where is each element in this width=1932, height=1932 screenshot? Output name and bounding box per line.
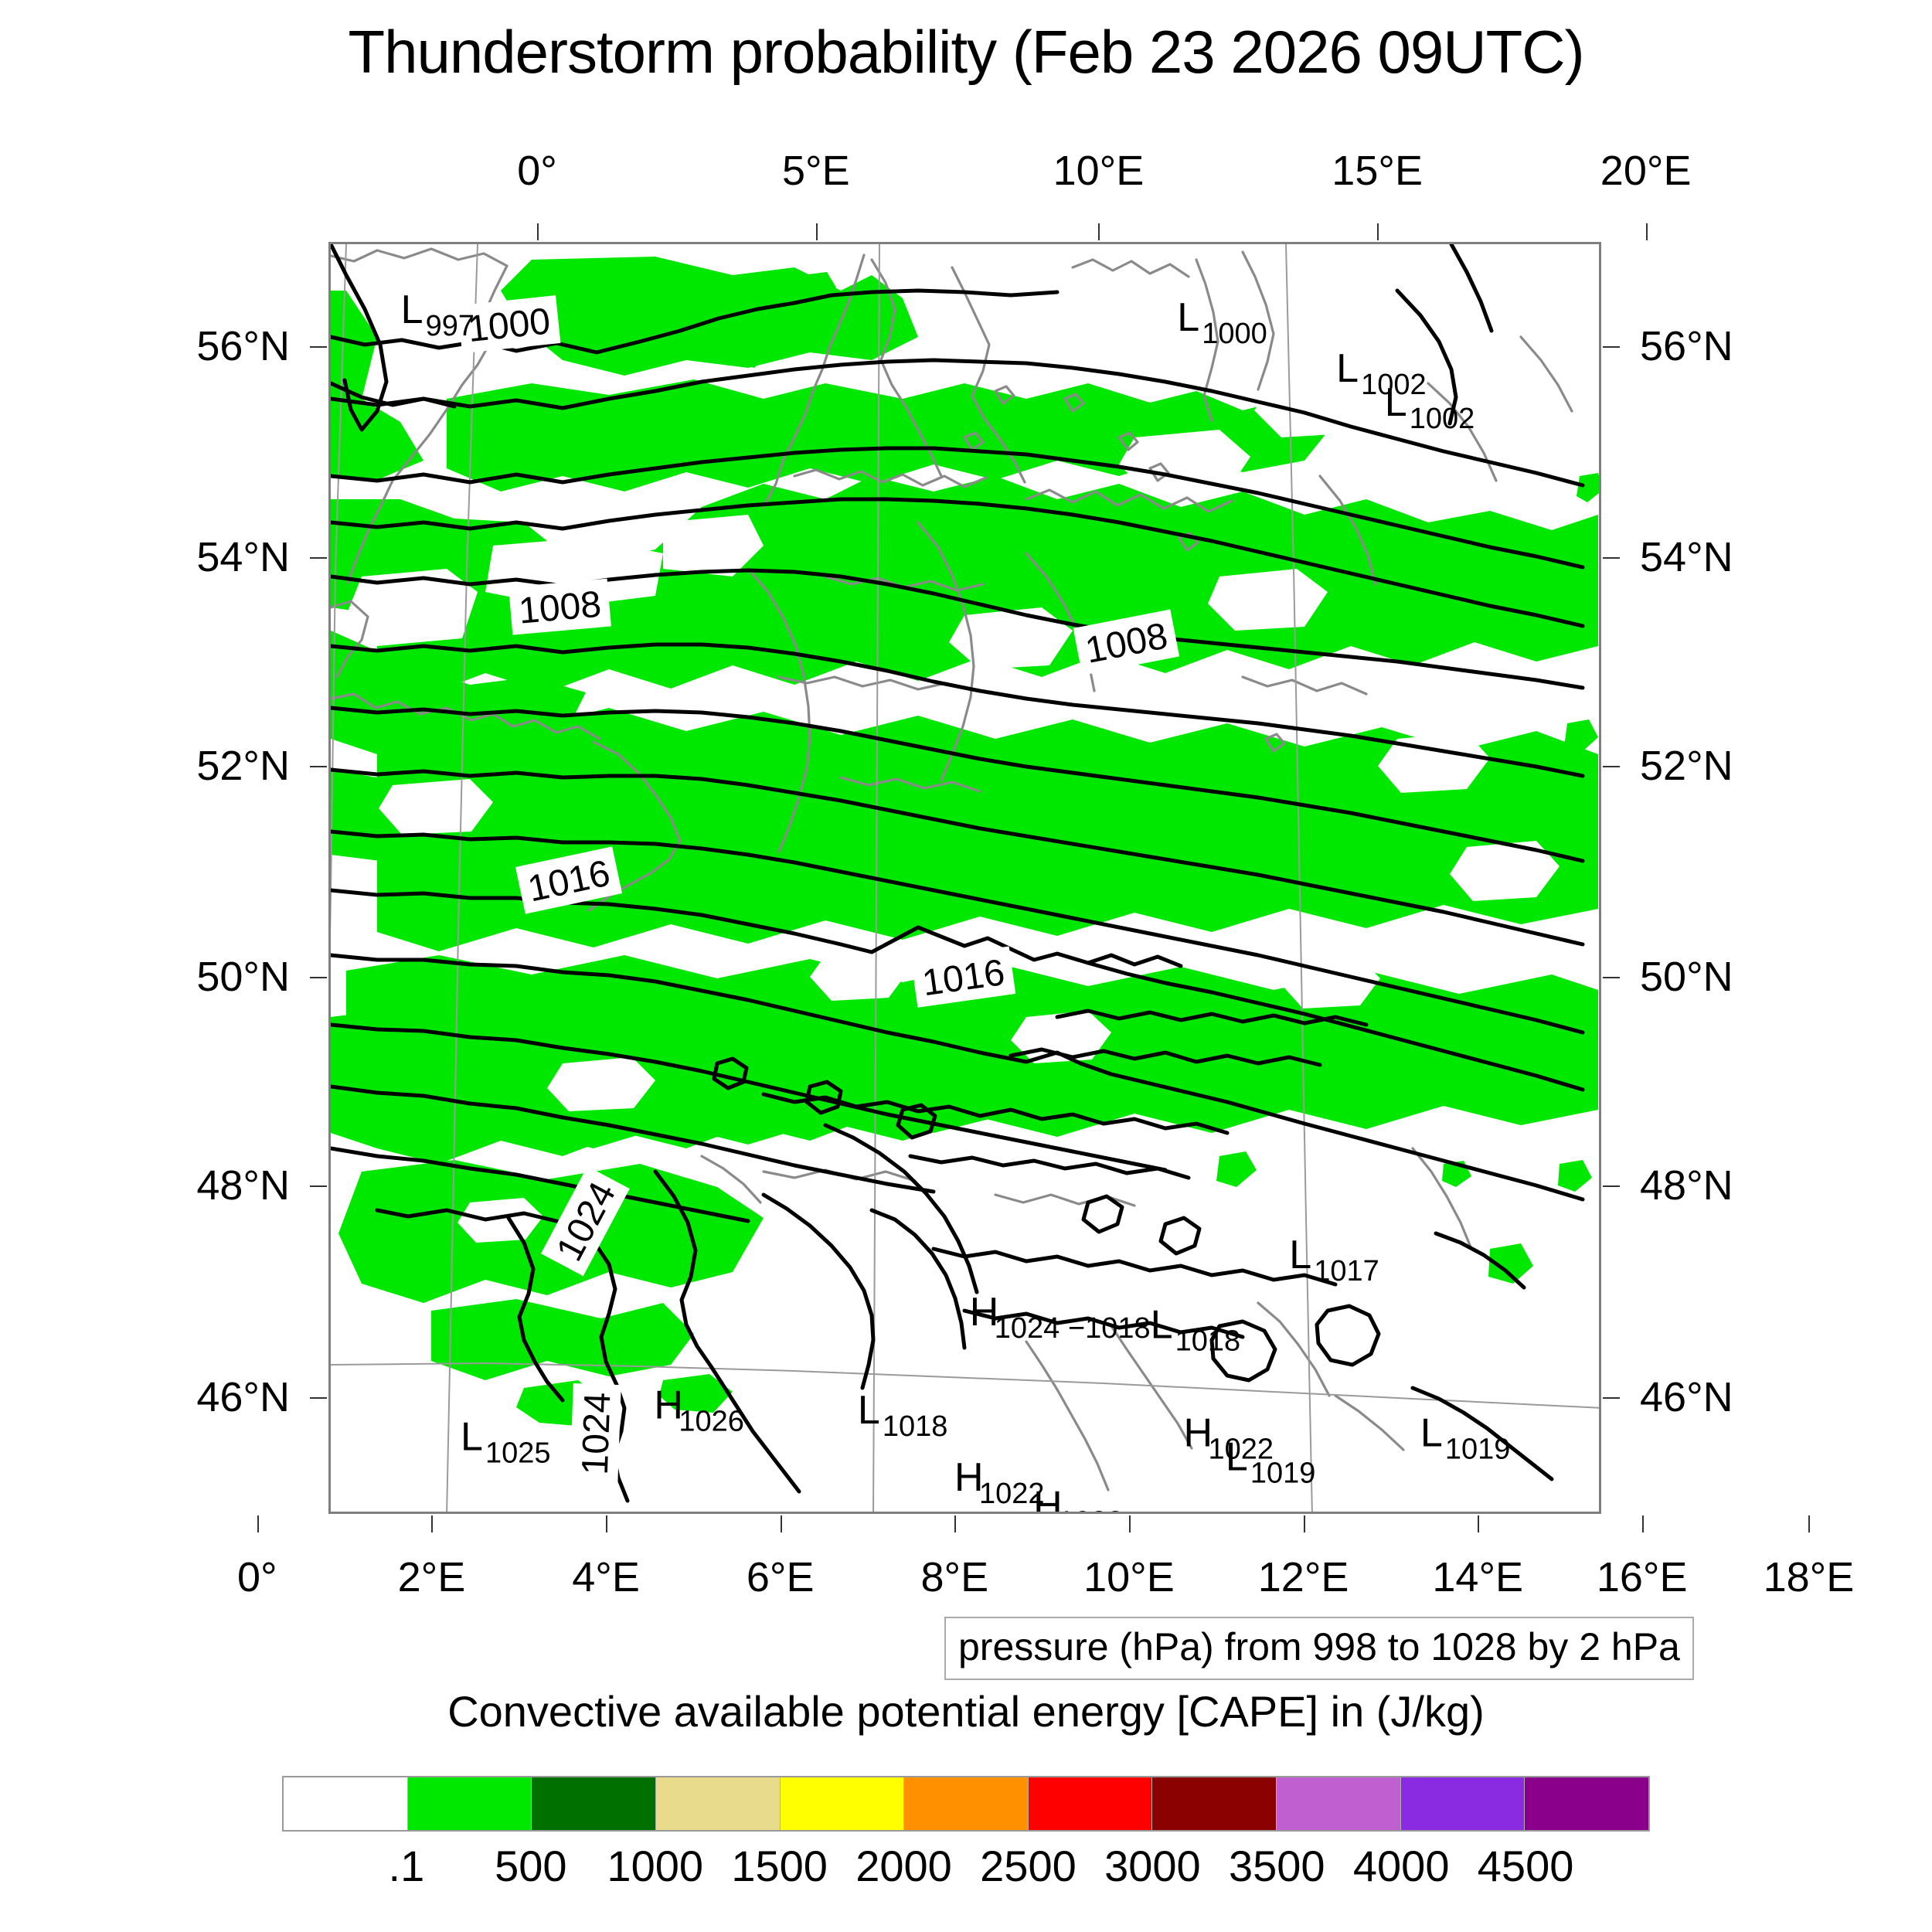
bottom-axis-tick-label: 10°E [1083,1553,1175,1601]
bottom-axis-tick [1808,1515,1810,1532]
right-axis-tick-label: 46°N [1640,1373,1733,1421]
colorbar-tick-label: 4000 [1353,1841,1450,1891]
pressure-center-low: L1018 [1151,1303,1241,1358]
pressure-center-symbol: L [1420,1410,1443,1455]
left-axis-tick [310,977,327,978]
pressure-center-value: 1026 [679,1405,744,1437]
pressure-center-value: 1025 [485,1437,551,1469]
contour-label-text: 1000 [466,301,553,350]
colorbar-tick-label: 4500 [1478,1841,1574,1891]
pressure-center-symbol: L [1226,1435,1248,1480]
bottom-axis-tick-label: 18°E [1764,1553,1855,1601]
bottom-axis-tick-label: 0° [237,1553,277,1601]
pressure-center-symbol: L [401,287,423,332]
left-axis-tick-label: 46°N [196,1373,290,1421]
pressure-center-symbol: L [1289,1233,1311,1277]
top-axis-tick [816,223,818,240]
right-axis-tick-label: 54°N [1640,533,1733,581]
bottom-axis-tick-label: 4°E [572,1553,640,1601]
pressure-center-value: 1018 [883,1410,948,1443]
pressure-center-value: 1000 [1202,318,1267,350]
right-axis-tick [1603,557,1620,559]
pressure-center-symbol: L [1385,380,1407,425]
cape-colorbar [282,1776,1650,1832]
page-title: Thunderstorm probability (Feb 23 2026 09… [0,17,1932,87]
right-axis-tick [1603,1397,1620,1399]
colorbar-tick-label: 500 [495,1841,566,1891]
top-axis-tick-label: 0° [517,147,557,195]
map-canvas: 1000100810081016101610241024 L997L1000L1… [331,244,1601,1514]
right-axis-tick-label: 48°N [1640,1162,1733,1209]
bottom-axis-tick [1642,1515,1644,1532]
left-axis-tick-label: 56°N [196,322,290,370]
left-axis-tick-label: 48°N [196,1162,290,1209]
colorbar-segment [1400,1777,1525,1830]
colorbar-segment [1276,1777,1400,1830]
pressure-center-value: 1002 [1410,403,1475,435]
top-axis-tick [537,223,539,240]
contour-value-label: 1024 [570,1383,621,1484]
right-axis-tick-label: 56°N [1640,322,1733,370]
pressure-center-value: 1018 [1175,1325,1241,1358]
pressure-center-low: L1000 [1177,295,1267,350]
colorbar-tick-label: 2000 [855,1841,952,1891]
pressure-center-low: L1025 [461,1414,551,1469]
colorbar-tick-label: 1500 [731,1841,828,1891]
left-axis-tick [310,1185,327,1187]
right-axis-tick [1603,346,1620,348]
right-axis-tick [1603,1185,1620,1187]
pressure-center-low: L1002 [1385,380,1475,435]
pressure-center-symbol: L [1177,295,1199,340]
colorbar-segment [531,1777,655,1830]
pressure-center-symbol: L [461,1414,483,1459]
top-axis-tick [1646,223,1648,240]
colorbar-tick-label: 1000 [607,1841,703,1891]
pressure-center-high: H1022 [954,1455,1045,1510]
bottom-axis-tick-label: 16°E [1597,1553,1688,1601]
colorbar-segment [1524,1777,1648,1830]
bottom-axis-tick [781,1515,782,1532]
pressure-center-low: L1019 [1420,1410,1511,1465]
top-axis-tick-label: 15°E [1332,147,1423,195]
top-axis-tick-label: 5°E [782,147,850,195]
pressure-center-symbol: L [1336,346,1359,391]
pressure-note: pressure (hPa) from 998 to 1028 by 2 hPa [944,1617,1694,1680]
pressure-center-high: H1024 −1018 [970,1290,1151,1345]
pressure-center-low: L997 [401,287,474,342]
top-axis-tick [1377,223,1379,240]
left-axis-tick [310,766,327,767]
bottom-axis-tick-label: 12°E [1258,1553,1349,1601]
left-axis-tick-label: 54°N [196,533,290,581]
top-axis-tick [1098,223,1100,240]
right-axis-tick-label: 50°N [1640,953,1733,1001]
top-axis-tick-label: 10°E [1053,147,1145,195]
bottom-axis-tick [431,1515,433,1532]
bottom-axis-tick-label: 14°E [1432,1553,1523,1601]
colorbar-segment [1028,1777,1152,1830]
pressure-center-value: 1019 [1445,1433,1511,1465]
colorbar-segment [284,1777,407,1830]
colorbar-tick-label: .1 [389,1841,425,1891]
colorbar-tick-label: 2500 [980,1841,1077,1891]
left-axis-tick-label: 52°N [196,742,290,790]
pressure-center-symbol: L [858,1388,880,1433]
colorbar-segment [903,1777,1028,1830]
pressure-center-value: 1024 −1018 [995,1312,1151,1345]
left-axis-tick-label: 50°N [196,953,290,1001]
pressure-center-symbol: L [1151,1303,1173,1348]
pressure-center-value: 1017 [1314,1255,1379,1287]
bottom-axis-tick [257,1515,259,1532]
bottom-axis-tick-label: 8°E [920,1553,988,1601]
bottom-axis-tick-label: 6°E [747,1553,815,1601]
colorbar-segment [1151,1777,1276,1830]
pressure-center-value: 1019 [1250,1458,1316,1490]
right-axis-tick [1603,766,1620,767]
bottom-axis-tick [1478,1515,1479,1532]
pressure-center-low: L1018 [858,1388,948,1443]
left-axis-tick [310,1397,327,1399]
colorbar-segment [655,1777,780,1830]
colorbar-caption: Convective available potential energy [C… [0,1686,1932,1736]
map-plot-area: 1000100810081016101610241024 L997L1000L1… [328,242,1601,1514]
colorbar-segment [780,1777,904,1830]
pressure-center-low: L1017 [1289,1233,1379,1287]
colorbar-tick-label: 3500 [1229,1841,1325,1891]
bottom-axis-tick [1304,1515,1305,1532]
pressure-center-high: H1022 [1033,1483,1124,1514]
top-axis-tick-label: 20°E [1600,147,1692,195]
right-axis-tick-label: 52°N [1640,742,1733,790]
left-axis-tick [310,346,327,348]
bottom-axis-tick [1129,1515,1131,1532]
weather-chart-page: Thunderstorm probability (Feb 23 2026 09… [0,0,1932,1932]
contour-value-label: 1008 [509,579,611,635]
colorbar-tick-label: 3000 [1104,1841,1201,1891]
left-axis-tick [310,557,327,559]
pressure-center-value: 1022 [1058,1505,1124,1514]
colorbar-segment [407,1777,532,1830]
right-axis-tick [1603,977,1620,978]
pressure-center-value: 997 [426,310,474,342]
bottom-axis-tick [954,1515,956,1532]
bottom-axis-tick-label: 2°E [398,1553,466,1601]
contour-label-text: 1024 [575,1392,619,1476]
cape-colorbar-labels: .150010001500200025003000350040004500 [282,1841,1650,1895]
contour-label-text: 1008 [517,584,603,632]
bottom-axis-tick [606,1515,607,1532]
